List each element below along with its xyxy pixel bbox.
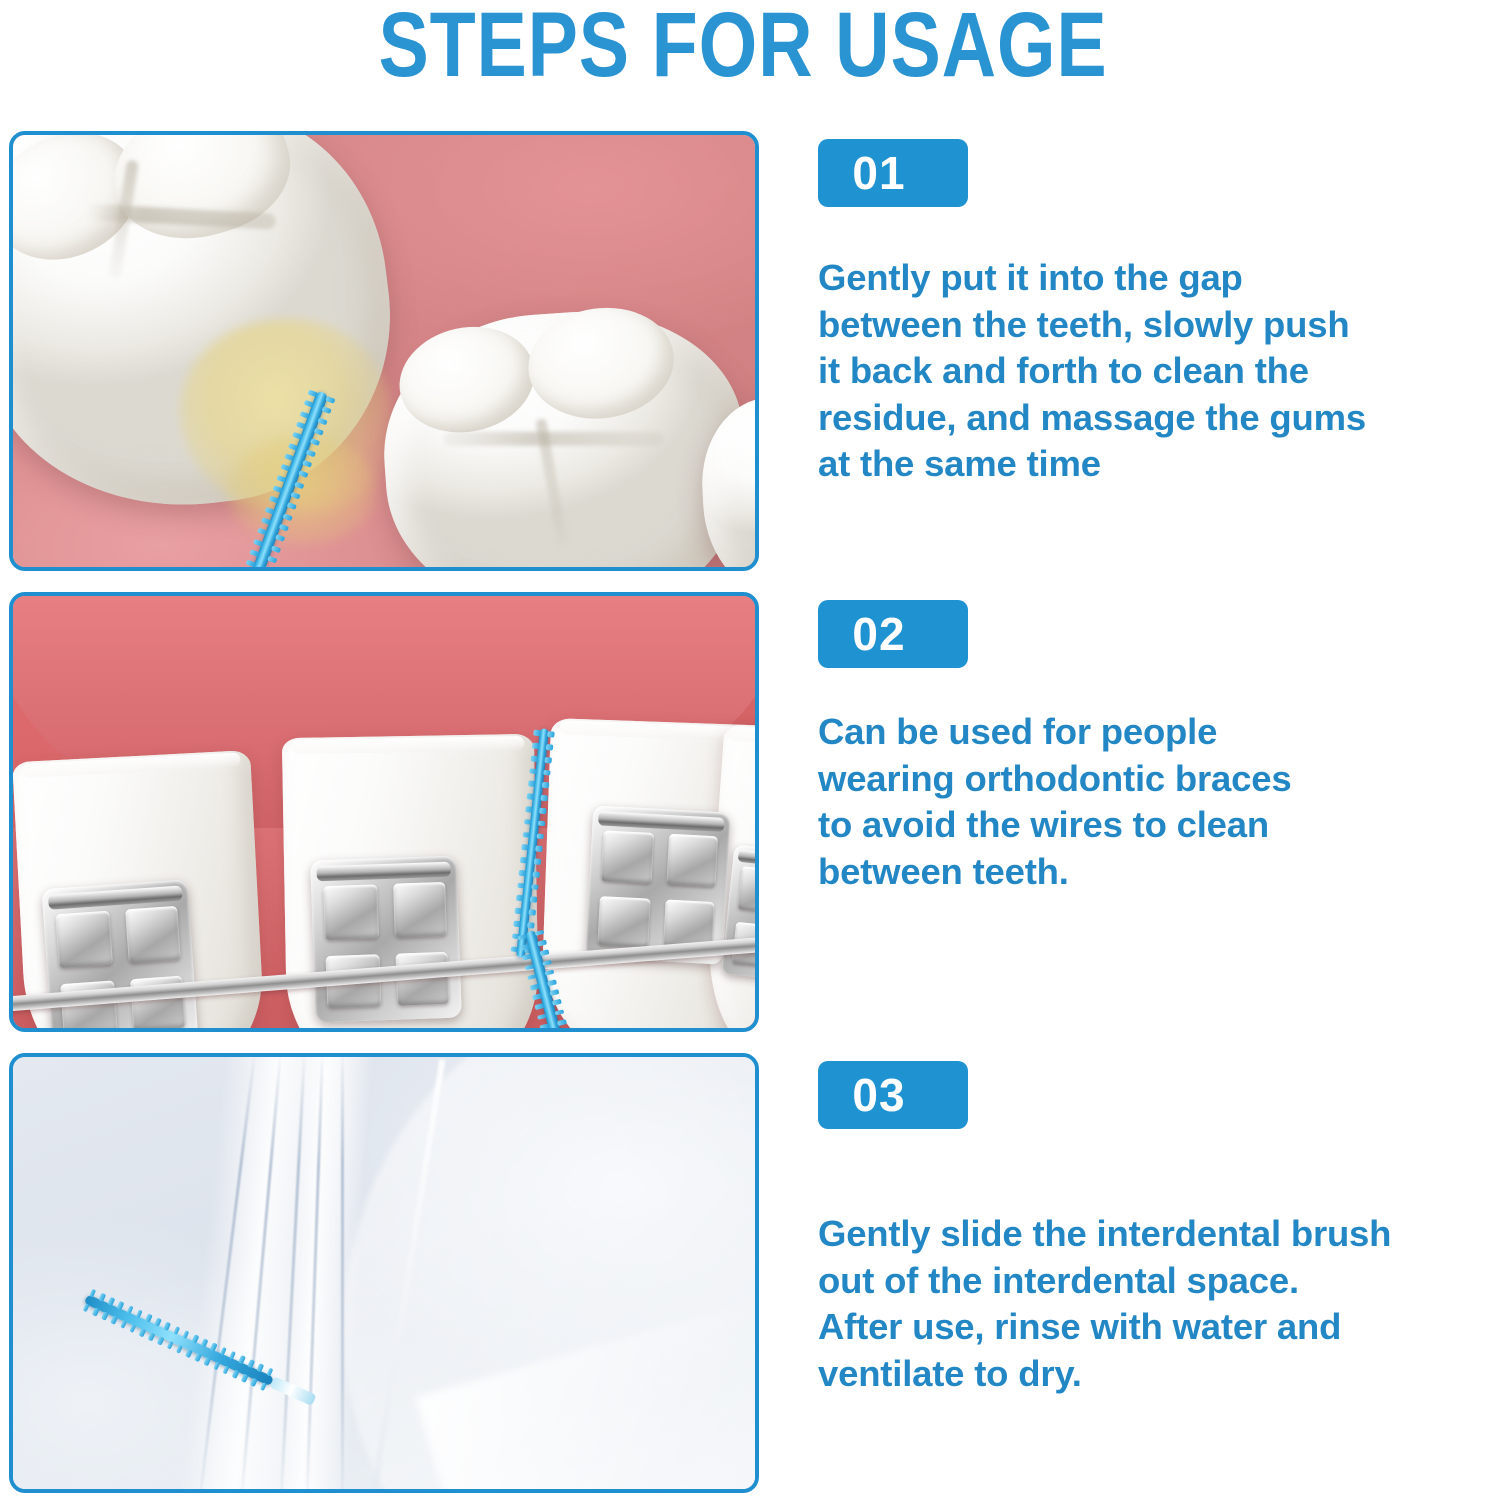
- bracket-wing-icon: [125, 906, 181, 963]
- brush-bristle-icon: [145, 1313, 152, 1322]
- teeth-with-orthodontic-braces-illustration: [13, 596, 755, 1028]
- page-title: STEPS FOR USAGE: [134, 0, 1353, 97]
- brush-bristle-icon: [298, 471, 308, 479]
- brush-bristle-icon: [204, 1357, 211, 1366]
- brush-bristle-icon: [222, 1365, 229, 1374]
- brush-bristle-icon: [325, 396, 335, 404]
- step-image-panel-01: [9, 131, 759, 571]
- brush-bristle-icon: [257, 1363, 264, 1372]
- brush-bristle-icon: [524, 964, 534, 971]
- brush-bristle-icon: [250, 1378, 257, 1387]
- brush-bristle-icon: [534, 1004, 544, 1011]
- brush-bristle-icon: [154, 1318, 161, 1327]
- brush-bristle-icon: [542, 960, 552, 967]
- brush-bristle-icon: [126, 1305, 133, 1314]
- brush-bristle-icon: [129, 1324, 136, 1333]
- brush-bristle-icon: [290, 492, 300, 500]
- brush-bristle-icon: [260, 1382, 267, 1391]
- brush-bristle-icon: [229, 1351, 236, 1360]
- brush-bristle-icon: [529, 768, 537, 774]
- brush-bristle-icon: [523, 819, 531, 825]
- brush-bristle-icon: [547, 731, 555, 737]
- brush-bristle-icon: [540, 795, 548, 801]
- brush-bristle-icon: [514, 908, 522, 914]
- brush-bristle-icon: [529, 984, 539, 991]
- brush-bristle-icon: [148, 1332, 155, 1341]
- step-row-03: 03 Gently slide the interdental brush ou…: [0, 1053, 1486, 1495]
- brush-bristle-icon: [539, 950, 549, 957]
- brush-bristle-icon: [521, 844, 529, 850]
- brush-bristle-icon: [266, 1367, 273, 1376]
- brush-bristle-icon: [318, 417, 328, 425]
- brush-bristle-icon: [525, 806, 533, 812]
- brush-bristle-icon: [531, 884, 539, 890]
- brush-bristle-icon: [279, 524, 289, 532]
- brush-bristle-icon: [535, 846, 543, 852]
- brush-bristle-icon: [164, 1322, 171, 1331]
- step-number-badge-01: 01: [818, 139, 968, 207]
- brush-rinsed-under-running-water-illustration: [13, 1057, 755, 1489]
- brush-bristle-icon: [89, 1289, 96, 1298]
- brush-bristle-icon: [517, 882, 525, 888]
- bracket-wing-icon: [666, 834, 717, 887]
- molar-groove-icon: [443, 432, 663, 446]
- brush-bristle-icon: [201, 1338, 208, 1347]
- brush-bristle-icon: [92, 1307, 99, 1316]
- brush-bristle-icon: [518, 870, 526, 876]
- brush-bristle-icon: [522, 954, 532, 961]
- bracket-wing-icon: [597, 896, 650, 947]
- brush-bristle-icon: [173, 1326, 180, 1335]
- brush-bristle-icon: [533, 858, 541, 864]
- brush-bristle-icon: [314, 428, 324, 436]
- brush-bristle-icon: [534, 930, 544, 937]
- brush-bristle-icon: [210, 1343, 217, 1352]
- brush-bristle-icon: [220, 1347, 227, 1356]
- tooth-edge-icon: [729, 726, 755, 748]
- step-text-column-02: 02 Can be used for people wearing orthod…: [818, 592, 1478, 1032]
- brush-bristle-icon: [526, 793, 534, 799]
- brush-bristle-icon: [537, 1014, 547, 1021]
- brush-bristle-icon: [287, 502, 297, 510]
- brush-bristle-icon: [541, 782, 549, 788]
- step-description-02: Can be used for people wearing orthodont…: [818, 709, 1478, 895]
- brush-bristle-icon: [556, 1019, 566, 1026]
- brush-bristle-icon: [117, 1301, 124, 1310]
- step-image-panel-02: [9, 592, 759, 1032]
- bracket-wing-icon: [323, 884, 379, 940]
- brush-bristle-icon: [138, 1328, 145, 1337]
- brush-bristle-icon: [247, 1359, 254, 1368]
- brush-bristle-icon: [517, 934, 527, 941]
- water-line-icon: [341, 1057, 344, 1489]
- braces-bracket-icon: [310, 856, 462, 1023]
- step-number-badge-02: 02: [818, 600, 968, 668]
- brush-bristle-icon: [294, 481, 304, 489]
- brush-bristle-icon: [267, 556, 277, 564]
- brush-bristle-icon: [185, 1349, 192, 1358]
- brush-bristle-icon: [275, 534, 285, 542]
- brush-bristle-icon: [545, 744, 553, 750]
- step-number-badge-03: 03: [818, 1061, 968, 1129]
- brush-bristle-icon: [527, 922, 535, 928]
- brush-bristle-icon: [157, 1336, 164, 1345]
- brush-bristle-icon: [552, 999, 562, 1006]
- brush-bristle-icon: [166, 1341, 173, 1350]
- brush-bristle-icon: [543, 769, 551, 775]
- brush-bristle-icon: [321, 407, 331, 415]
- brush-bristle-icon: [527, 781, 535, 787]
- step-text-column-01: 01 Gently put it into the gap between th…: [818, 131, 1478, 571]
- brush-bristle-icon: [510, 946, 518, 952]
- brush-bristle-icon: [533, 730, 541, 736]
- brush-bristle-icon: [176, 1345, 183, 1354]
- brush-bristle-icon: [110, 1316, 117, 1325]
- brush-bristle-icon: [532, 871, 540, 877]
- step-row-02: 02 Can be used for people wearing orthod…: [0, 592, 1486, 1034]
- brush-bristle-icon: [194, 1353, 201, 1362]
- brush-bristle-icon: [537, 820, 545, 826]
- brush-bristle-icon: [271, 545, 281, 553]
- brush-bristle-icon: [530, 755, 538, 761]
- brush-bristle-icon: [307, 389, 317, 397]
- brush-bristle-icon: [241, 1374, 248, 1383]
- tooth-edge-icon: [292, 736, 524, 754]
- brush-bristle-icon: [136, 1309, 143, 1318]
- brush-bristle-icon: [83, 1303, 90, 1312]
- brush-bristle-icon: [108, 1297, 115, 1306]
- bracket-wing-icon: [393, 882, 447, 938]
- brush-bristle-icon: [310, 439, 320, 447]
- brush-bristle-icon: [302, 460, 312, 468]
- brush-bristle-icon: [532, 994, 542, 1001]
- brush-bristle-icon: [192, 1334, 199, 1343]
- brush-bristle-icon: [283, 513, 293, 521]
- brush-bristle-icon: [519, 944, 529, 951]
- step-image-panel-03: [9, 1053, 759, 1493]
- brush-bristle-icon: [537, 940, 547, 947]
- brush-bristle-icon: [522, 831, 530, 837]
- brush-bristle-icon: [263, 566, 273, 567]
- brush-bristle-icon: [539, 808, 547, 814]
- brush-bristle-icon: [232, 1370, 239, 1379]
- brush-bristle-icon: [539, 1024, 549, 1028]
- brush-bristle-icon: [519, 857, 527, 863]
- brush-bristle-icon: [515, 895, 523, 901]
- brush-bristle-icon: [182, 1330, 189, 1339]
- brush-bristle-icon: [554, 1009, 564, 1016]
- bracket-wing-icon: [601, 830, 654, 883]
- brush-bristle-icon: [536, 833, 544, 839]
- brush-bristle-icon: [544, 757, 552, 763]
- step-row-01: 01 Gently put it into the gap between th…: [0, 131, 1486, 573]
- brush-bristle-icon: [120, 1320, 127, 1329]
- brush-bristle-icon: [531, 743, 539, 749]
- brush-bristle-icon: [306, 449, 316, 457]
- brush-bristle-icon: [238, 1355, 245, 1364]
- brush-bristle-icon: [101, 1311, 108, 1320]
- bracket-wing-icon: [55, 911, 113, 969]
- brush-bristle-icon: [213, 1361, 220, 1370]
- step-text-column-03: 03 Gently slide the interdental brush ou…: [818, 1053, 1478, 1493]
- brush-bristle-icon: [98, 1293, 105, 1302]
- brush-bristle-icon: [544, 970, 554, 977]
- brush-bristle-icon: [549, 989, 559, 996]
- molars-with-interdental-brush-illustration: [13, 135, 755, 567]
- step-description-01: Gently put it into the gap between the t…: [818, 255, 1478, 488]
- brush-bristle-icon: [529, 896, 537, 902]
- brush-bristle-icon: [527, 974, 537, 981]
- brush-bristle-icon: [547, 979, 557, 986]
- step-description-03: Gently slide the interdental brush out o…: [818, 1211, 1478, 1397]
- infographic-page: STEPS FOR USAGE: [0, 0, 1486, 1500]
- brush-bristle-icon: [528, 909, 536, 915]
- brush-bristle-icon: [513, 920, 521, 926]
